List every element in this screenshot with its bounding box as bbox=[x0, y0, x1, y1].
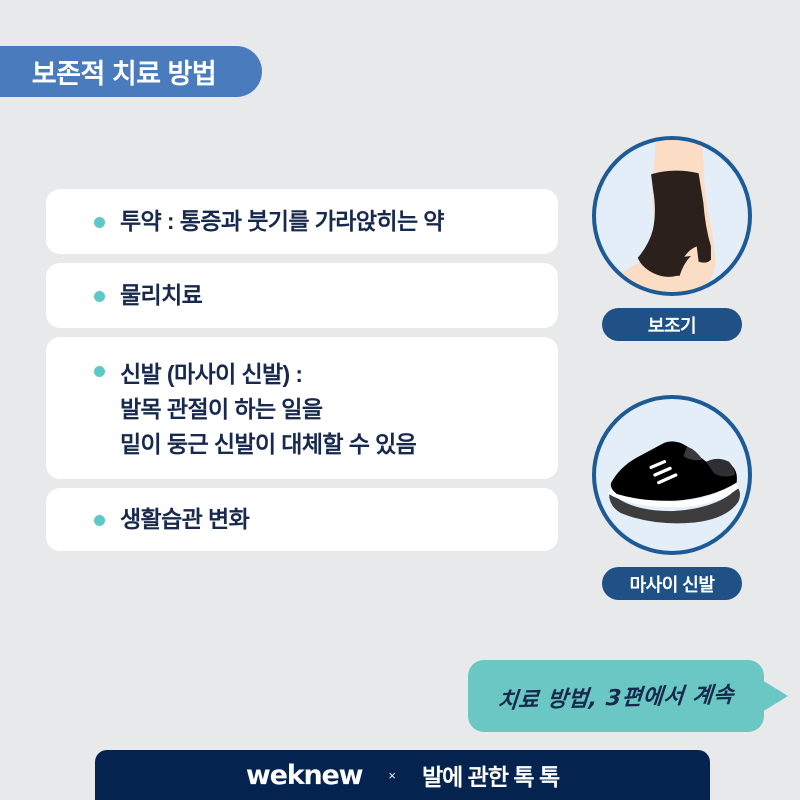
list-item-label: 생활습관 변화 bbox=[120, 508, 249, 531]
footer-bar: weknew × 발에 관한 톡 톡 bbox=[95, 750, 710, 800]
page-title: 보존적 치료 방법 bbox=[32, 52, 216, 91]
list-item[interactable]: 신발 (마사이 신발) : 발목 관절이 하는 일을 밑이 둥근 신발이 대체할… bbox=[46, 337, 558, 479]
media-column: 보조기 마사이 신발 bbox=[592, 136, 752, 600]
media-label-pill: 보조기 bbox=[602, 308, 742, 341]
callout-text: 치료 방법, 3편에서 계속 bbox=[497, 677, 736, 715]
list-item[interactable]: 생활습관 변화 bbox=[46, 488, 558, 551]
continuation-callout: 치료 방법, 3편에서 계속 bbox=[468, 660, 798, 736]
dot-bullet-icon bbox=[94, 291, 105, 302]
treatment-list: 투약 : 통증과 붓기를 가라앉히는 약 물리치료 신발 (마사이 신발) : … bbox=[46, 189, 558, 551]
list-item-label: 물리치료 bbox=[120, 284, 202, 307]
list-item-label: 투약 : 통증과 붓기를 가라앉히는 약 bbox=[120, 210, 444, 233]
dot-bullet-icon bbox=[94, 217, 105, 228]
footer-brand-logo: weknew bbox=[246, 760, 363, 791]
rocker-sole-shoe-icon bbox=[592, 395, 752, 555]
ankle-brace-icon bbox=[592, 136, 752, 296]
list-item-label: 신발 (마사이 신발) : 발목 관절이 하는 일을 밑이 둥근 신발이 대체할… bbox=[120, 357, 416, 462]
media-item-masai-shoe: 마사이 신발 bbox=[592, 395, 752, 600]
footer-separator-icon: × bbox=[388, 768, 396, 783]
media-item-ankle-brace: 보조기 bbox=[592, 136, 752, 341]
list-item[interactable]: 물리치료 bbox=[46, 263, 558, 328]
media-label-text: 마사이 신발 bbox=[630, 571, 715, 597]
dot-bullet-icon bbox=[94, 515, 105, 526]
dot-bullet-icon bbox=[94, 366, 105, 377]
list-item[interactable]: 투약 : 통증과 붓기를 가라앉히는 약 bbox=[46, 189, 558, 254]
media-label-pill: 마사이 신발 bbox=[602, 567, 742, 600]
page-title-pill: 보존적 치료 방법 bbox=[0, 46, 262, 97]
footer-partner-name: 발에 관한 톡 톡 bbox=[422, 758, 559, 792]
callout-body: 치료 방법, 3편에서 계속 bbox=[468, 660, 764, 732]
media-label-text: 보조기 bbox=[648, 312, 696, 338]
